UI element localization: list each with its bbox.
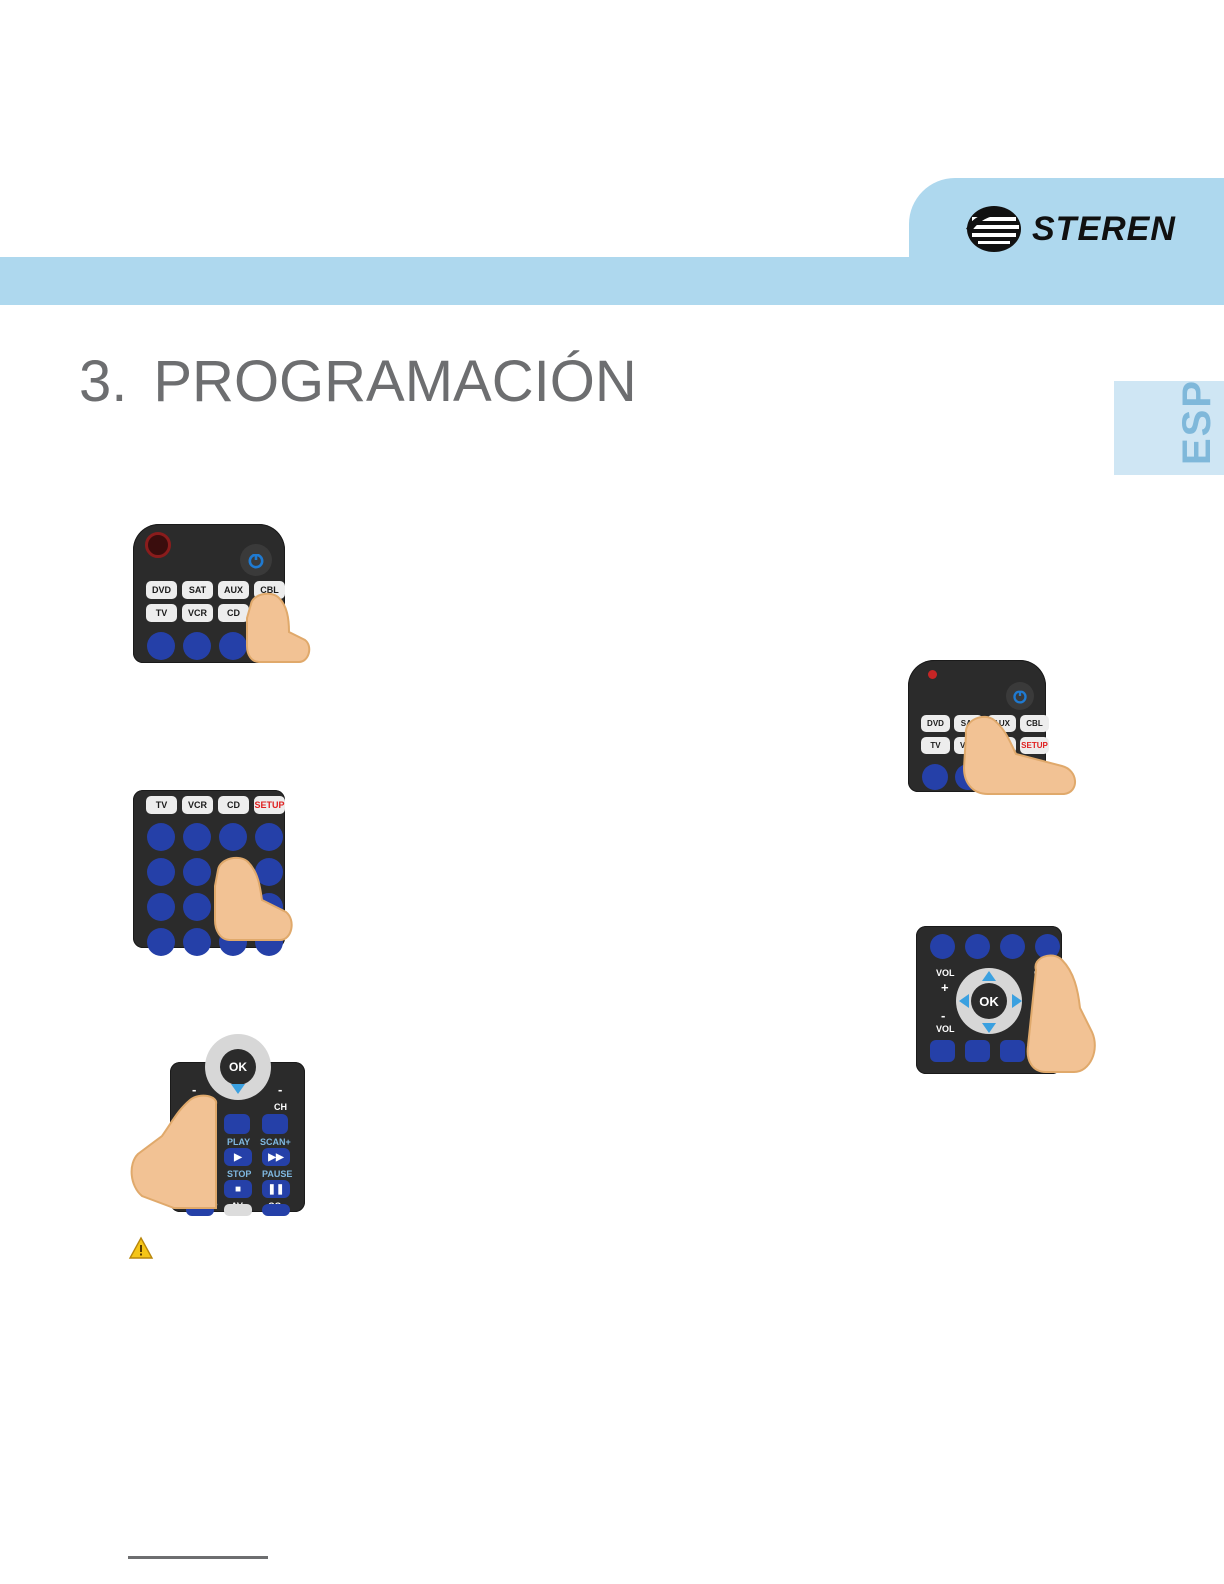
function-key[interactable] <box>965 1040 990 1062</box>
power-button[interactable] <box>240 544 272 576</box>
vol-minus-label: - <box>941 1008 945 1023</box>
mode-key-tv[interactable]: TV <box>146 604 177 622</box>
mode-key-dvd[interactable]: DVD <box>921 715 950 732</box>
ok-button[interactable]: OK <box>220 1049 256 1085</box>
numeric-key[interactable] <box>183 632 211 660</box>
numeric-key[interactable] <box>147 893 175 921</box>
ch-label: CH <box>274 1102 287 1112</box>
play-button[interactable]: ▶ <box>224 1148 252 1166</box>
mode-key-tv[interactable]: TV <box>921 737 950 754</box>
section-number: 3. <box>79 349 127 414</box>
page-title: 3.PROGRAMACIÓN <box>79 348 637 415</box>
mode-key-vcr[interactable]: VCR <box>182 796 213 814</box>
footer-rule <box>128 1556 268 1559</box>
hand-pointing-navigation <box>1022 952 1100 1074</box>
section-title: PROGRAMACIÓN <box>153 349 636 414</box>
ch-minus-label: - <box>278 1082 282 1097</box>
vol-label-top: VOL <box>936 968 955 978</box>
numeric-key[interactable] <box>183 893 211 921</box>
dpad-up-icon <box>982 971 996 981</box>
hand-pointing-mode <box>958 712 1082 796</box>
stop-button[interactable]: ■ <box>224 1180 252 1198</box>
function-key[interactable] <box>930 1040 955 1062</box>
numeric-key[interactable] <box>147 858 175 886</box>
mode-key-dvd[interactable]: DVD <box>146 581 177 599</box>
ok-button[interactable]: OK <box>971 983 1007 1019</box>
mode-key-cd[interactable]: CD <box>218 796 249 814</box>
ir-led-icon <box>145 532 171 558</box>
hand-pointing-transport <box>128 1094 224 1210</box>
hand-pointing-setup <box>243 588 318 666</box>
function-key[interactable] <box>262 1114 288 1134</box>
numeric-key[interactable] <box>219 823 247 851</box>
dpad-left-icon <box>959 994 969 1008</box>
extra-key-center[interactable] <box>224 1204 252 1216</box>
numeric-key[interactable] <box>183 928 211 956</box>
numeric-key[interactable] <box>930 934 955 959</box>
scan-forward-button[interactable]: ▶▶ <box>262 1148 290 1166</box>
steren-wave-logo-icon <box>966 205 1022 253</box>
scan-plus-label: SCAN+ <box>260 1137 291 1147</box>
power-icon <box>1012 688 1028 704</box>
mode-key-sat[interactable]: SAT <box>182 581 213 599</box>
extra-key-right[interactable] <box>262 1204 290 1216</box>
vol-label-bottom: VOL <box>936 1024 955 1034</box>
power-button[interactable] <box>1006 682 1034 710</box>
ir-led-icon <box>928 670 937 679</box>
numeric-key[interactable] <box>147 928 175 956</box>
dpad-down-icon <box>231 1084 245 1094</box>
language-side-tab-label: ESP <box>1175 379 1220 465</box>
numeric-key[interactable] <box>965 934 990 959</box>
pause-label: PAUSE <box>262 1169 292 1179</box>
numeric-key[interactable] <box>183 858 211 886</box>
mode-key-tv[interactable]: TV <box>146 796 177 814</box>
numeric-key[interactable] <box>183 823 211 851</box>
brand-name: STEREN <box>1032 210 1176 249</box>
function-key[interactable] <box>224 1114 250 1134</box>
setup-key[interactable]: SETUP <box>254 796 285 814</box>
dpad-right-icon <box>1012 994 1022 1008</box>
stop-label: STOP <box>227 1169 251 1179</box>
power-icon <box>247 551 265 569</box>
pause-button[interactable]: ❚❚ <box>262 1180 290 1198</box>
hand-pointing-keypad <box>212 852 304 942</box>
dpad-down-icon <box>982 1023 996 1033</box>
numeric-key[interactable] <box>147 823 175 851</box>
play-label: PLAY <box>227 1137 250 1147</box>
numeric-key[interactable] <box>147 632 175 660</box>
header-band <box>0 257 1224 305</box>
warning-triangle-icon <box>128 1236 154 1260</box>
brand-logo: STEREN <box>966 203 1176 255</box>
vol-plus-label: + <box>941 980 949 995</box>
numeric-key[interactable] <box>922 764 948 790</box>
mode-key-vcr[interactable]: VCR <box>182 604 213 622</box>
numeric-key[interactable] <box>255 823 283 851</box>
